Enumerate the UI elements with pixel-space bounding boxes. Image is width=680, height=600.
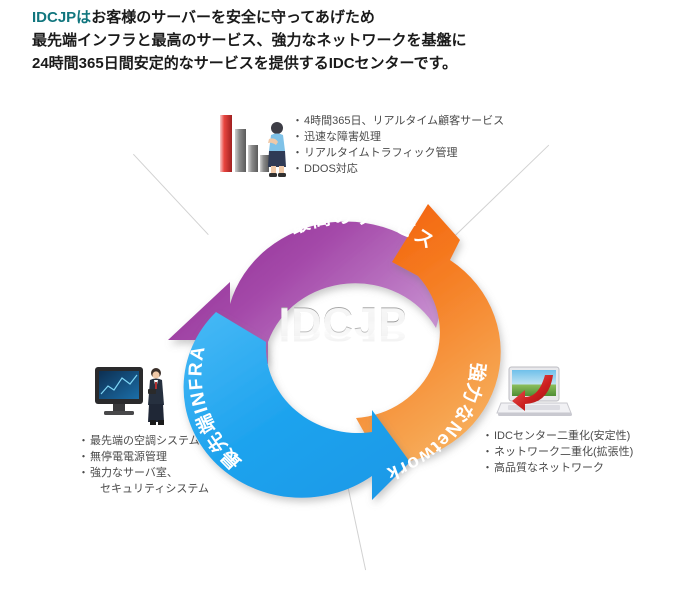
- brand-name: IDCJPは: [32, 9, 91, 26]
- page-header: IDCJPはお客様のサーバーを安全に守ってあげため 最先端インフラと最高のサービ…: [32, 6, 652, 75]
- header-line-1: IDCJPはお客様のサーバーを安全に守ってあげため: [32, 6, 652, 29]
- bar-chart-presenter-icon: [214, 103, 288, 179]
- callout-right-item: IDCセンター二重化(安定性): [482, 428, 633, 444]
- header-line-3: 24時間365日間安定的なサービスを提供するIDCセンターです。: [32, 52, 652, 75]
- cycle-diagram: 最高のサービス 強力なNetwork 最先端INFRA IDCJP IDCJP: [0, 95, 680, 600]
- ring-graphic: 最高のサービス 強力なNetwork 最先端INFRA: [160, 190, 530, 520]
- callout-top-item: リアルタイムトラフィック管理: [292, 145, 504, 161]
- callout-left-item: 最先端の空調システム: [78, 433, 209, 449]
- callout-top-list: 4時間365日、リアルタイム顧客サービス 迅速な障害処理 リアルタイムトラフィッ…: [292, 113, 504, 177]
- callout-left-list: 最先端の空調システム 無停電電源管理 強力なサーバ室、 セキュリティシステム: [78, 433, 209, 497]
- callout-right-item: ネットワーク二重化(拡張性): [482, 444, 633, 460]
- callout-left-item: 無停電電源管理: [78, 449, 209, 465]
- header-line-2: 最先端インフラと最高のサービス、強力なネットワークを基盤に: [32, 29, 652, 52]
- callout-left-item: 強力なサーバ室、: [78, 465, 209, 481]
- callout-top-item: 4時間365日、リアルタイム顧客サービス: [292, 113, 504, 129]
- laptop-arrow-icon: [496, 363, 574, 425]
- callout-top-item: 迅速な障害処理: [292, 129, 504, 145]
- segment-infra[interactable]: [184, 312, 410, 500]
- callout-right-item: 高品質なネットワーク: [482, 460, 633, 476]
- header-line-1-rest: お客様のサーバーを安全に守ってあげため: [91, 9, 375, 26]
- monitor-businessman-icon: [92, 362, 172, 428]
- callout-right-list: IDCセンター二重化(安定性) ネットワーク二重化(拡張性) 高品質なネットワー…: [482, 428, 633, 476]
- callout-top-item: DDOS対応: [292, 161, 504, 177]
- callout-left-item: セキュリティシステム: [78, 481, 209, 497]
